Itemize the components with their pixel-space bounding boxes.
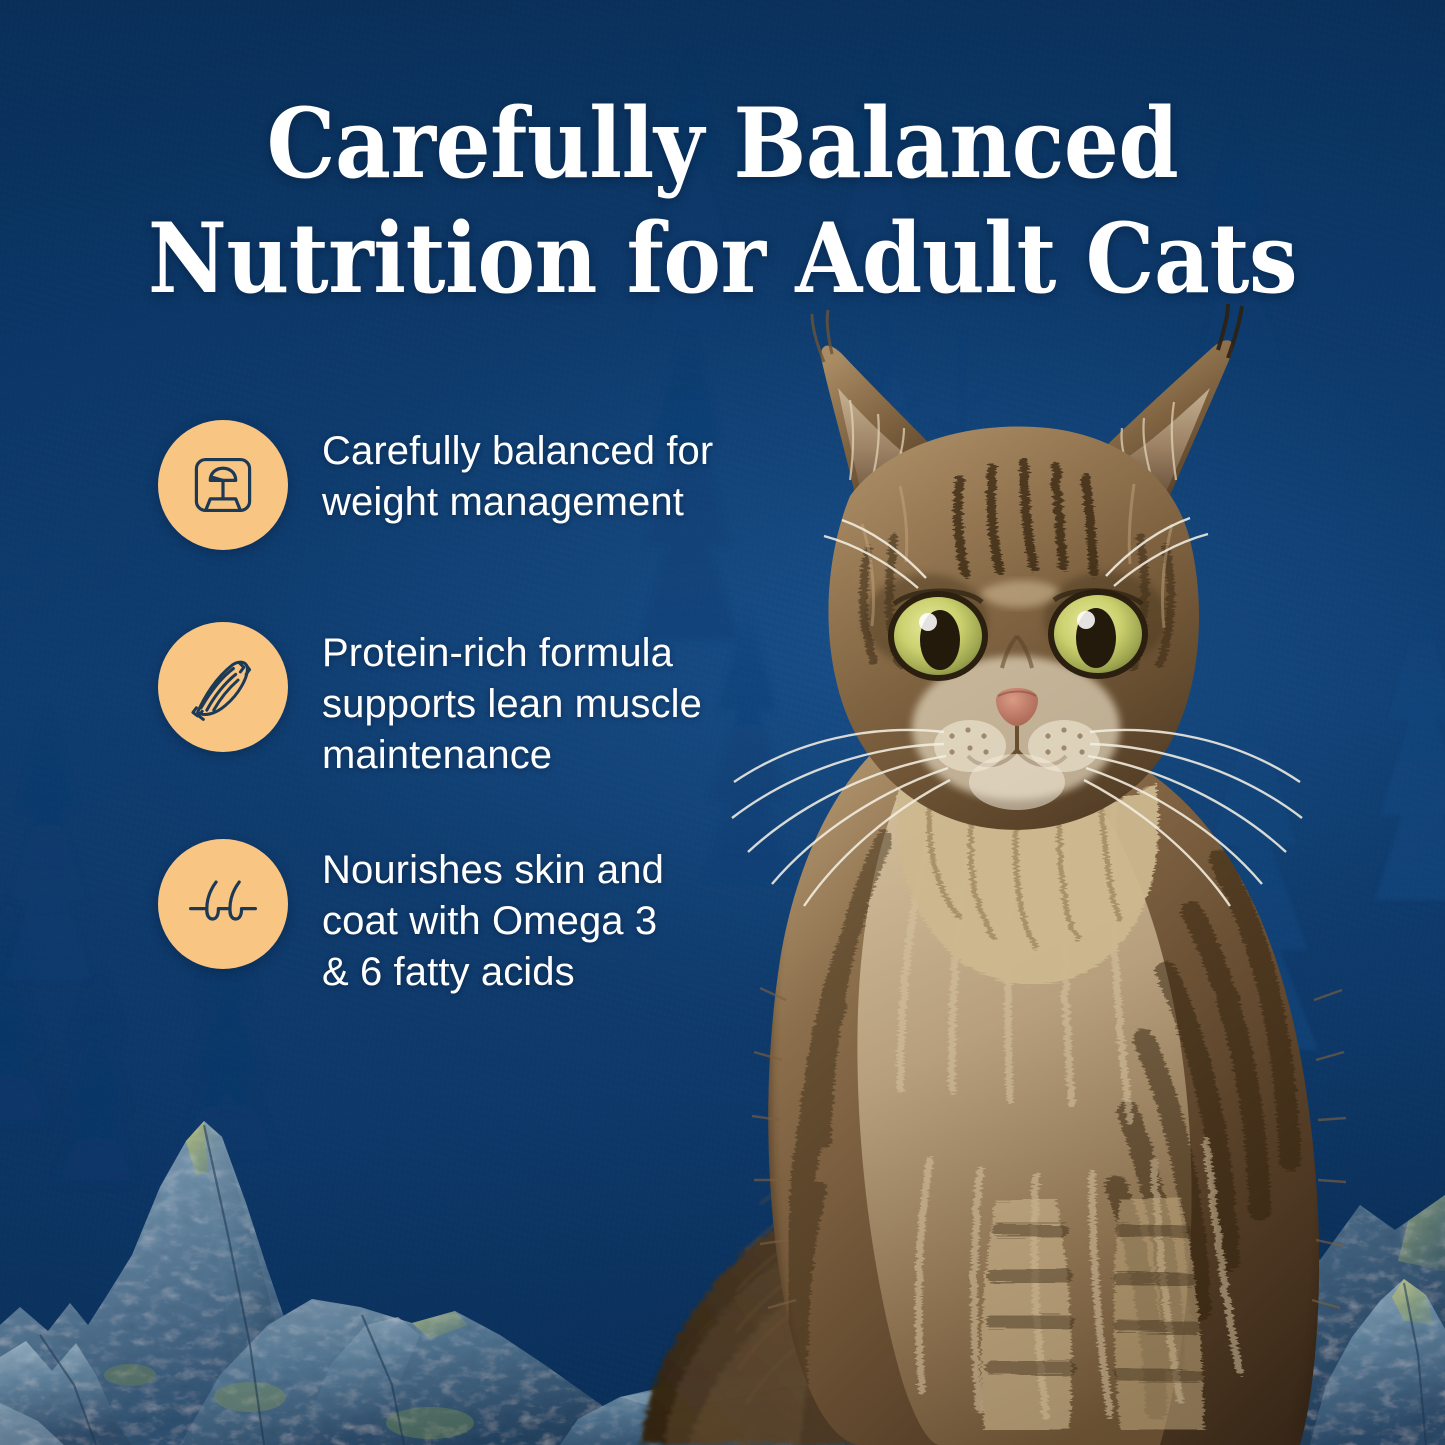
headline-line-1: Carefully Balanced — [72, 86, 1373, 201]
benefit-text-line: supports lean muscle — [322, 679, 702, 730]
benefit-text-line: Carefully balanced for — [322, 426, 713, 477]
benefit-icon-badge — [158, 622, 288, 752]
benefit-item-protein-muscle: Protein-rich formula supports lean muscl… — [158, 622, 778, 781]
cat-right-eye — [1051, 591, 1145, 676]
benefit-text-line: coat with Omega 3 — [322, 896, 664, 947]
benefit-text-line: weight management — [322, 477, 713, 528]
headline-line-2: Nutrition for Adult Cats — [72, 201, 1373, 316]
benefits-list: Carefully balanced for weight management — [158, 420, 778, 998]
hair-follicle-icon — [186, 867, 260, 941]
product-benefits-poster: Carefully Balanced Nutrition for Adult C… — [0, 0, 1445, 1445]
weight-scale-icon — [186, 448, 260, 522]
page-title: Carefully Balanced Nutrition for Adult C… — [72, 86, 1373, 316]
benefit-item-weight-management: Carefully balanced for weight management — [158, 420, 778, 550]
benefit-text: Protein-rich formula supports lean muscl… — [322, 622, 702, 781]
benefit-text-line: maintenance — [322, 730, 702, 781]
benefit-icon-badge — [158, 420, 288, 550]
benefit-text: Nourishes skin and coat with Omega 3 & 6… — [322, 839, 664, 998]
benefit-text-line: Nourishes skin and — [322, 845, 664, 896]
benefit-icon-badge — [158, 839, 288, 969]
benefit-text: Carefully balanced for weight management — [322, 420, 713, 528]
benefit-item-skin-and-coat: Nourishes skin and coat with Omega 3 & 6… — [158, 839, 778, 998]
cat-left-eye — [891, 591, 985, 678]
benefit-text-line: & 6 fatty acids — [322, 947, 664, 998]
benefit-text-line: Protein-rich formula — [322, 628, 702, 679]
muscle-fiber-icon — [186, 650, 260, 724]
